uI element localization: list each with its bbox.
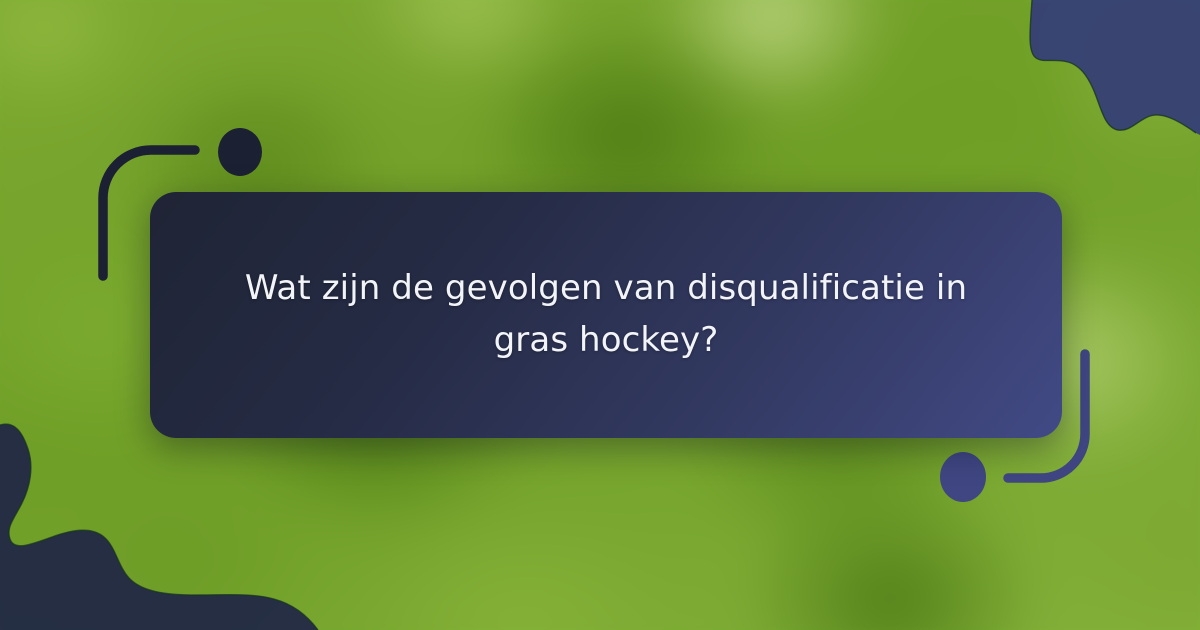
share-card-canvas: Wat zijn de gevolgen van disqualificatie… — [0, 0, 1200, 630]
question-card: Wat zijn de gevolgen van disqualificatie… — [150, 192, 1062, 438]
question-text: Wat zijn de gevolgen van disqualificatie… — [236, 263, 976, 366]
